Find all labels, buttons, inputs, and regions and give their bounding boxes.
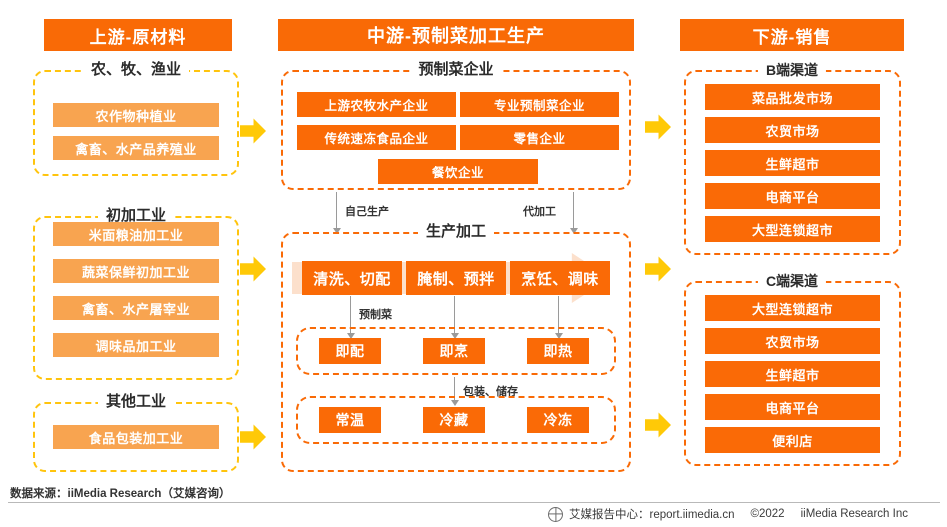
- banner-downstream: 下游-销售: [680, 19, 904, 51]
- chip-traditional-frozen-food-enterprise[interactable]: 传统速冻食品企业: [297, 125, 456, 150]
- chip-condiment-processing[interactable]: 调味品加工业: [53, 333, 219, 357]
- group-title-b-channel: B端渠道: [758, 62, 826, 78]
- chip-food-packaging[interactable]: 食品包装加工业: [53, 425, 219, 449]
- chip-b-wholesale-market[interactable]: 菜品批发市场: [705, 84, 880, 110]
- chip-catering-enterprise[interactable]: 餐饮企业: [378, 159, 538, 184]
- chip-livestock-aquaculture[interactable]: 禽畜、水产品养殖业: [53, 136, 219, 160]
- chip-c-convenience-store[interactable]: 便利店: [705, 427, 880, 453]
- flow-arrow-upstream-to-midstream-3: [240, 424, 266, 450]
- chip-c-farmers-market[interactable]: 农贸市场: [705, 328, 880, 354]
- infographic-canvas: 上游-原材料 农、牧、渔业 农作物种植业 禽畜、水产品养殖业 初加工业 米面粮油…: [0, 0, 947, 527]
- flow-arrow-upstream-to-midstream-2: [240, 256, 266, 282]
- banner-upstream: 上游-原材料: [44, 19, 232, 51]
- chip-vegetable-preservation[interactable]: 蔬菜保鲜初加工业: [53, 259, 219, 283]
- chip-retail-enterprise[interactable]: 零售企业: [460, 125, 619, 150]
- flow-arrow-midstream-to-downstream-2: [645, 256, 671, 282]
- chip-c-ecommerce-platform[interactable]: 电商平台: [705, 394, 880, 420]
- chip-ready-to-cook[interactable]: 即烹: [423, 338, 485, 364]
- chip-ready-to-prepare[interactable]: 即配: [319, 338, 381, 364]
- group-title-production-processing: 生产加工: [418, 224, 494, 240]
- chip-refrigerated[interactable]: 冷藏: [423, 407, 485, 433]
- group-title-other-industry: 其他工业: [98, 394, 174, 410]
- chip-c-fresh-supermarket[interactable]: 生鲜超市: [705, 361, 880, 387]
- chip-c-chain-supermarket[interactable]: 大型连锁超市: [705, 295, 880, 321]
- banner-midstream: 中游-预制菜加工生产: [278, 19, 634, 51]
- chip-upstream-agri-enterprise[interactable]: 上游农牧水产企业: [297, 92, 456, 117]
- company-text: iiMedia Research Inc: [801, 508, 908, 520]
- chip-b-farmers-market[interactable]: 农贸市场: [705, 117, 880, 143]
- chip-cook-season[interactable]: 烹饪、调味: [510, 261, 610, 295]
- chip-ready-to-heat[interactable]: 即热: [527, 338, 589, 364]
- source-note: 数据来源：iiMedia Research（艾媒咨询）: [10, 485, 230, 501]
- footer-divider: [8, 502, 940, 503]
- chip-wash-cut[interactable]: 清洗、切配: [302, 261, 402, 295]
- chip-ambient-temperature[interactable]: 常温: [319, 407, 381, 433]
- connector-label-prepared-dish: 预制菜: [359, 306, 392, 322]
- chip-crop-planting[interactable]: 农作物种植业: [53, 103, 219, 127]
- connector-label-oem: 代加工: [523, 203, 556, 219]
- connector-line-oem: [573, 192, 574, 229]
- connector-line-self-production: [336, 192, 337, 229]
- chip-b-chain-supermarket[interactable]: 大型连锁超市: [705, 216, 880, 242]
- globe-icon: [548, 507, 563, 522]
- flow-arrow-midstream-to-downstream-1: [645, 114, 671, 140]
- flow-arrow-upstream-to-midstream-1: [240, 118, 266, 144]
- chip-b-ecommerce-platform[interactable]: 电商平台: [705, 183, 880, 209]
- chip-frozen[interactable]: 冷冻: [527, 407, 589, 433]
- chip-professional-prepared-enterprise[interactable]: 专业预制菜企业: [460, 92, 619, 117]
- connector-label-self-production: 自己生产: [345, 203, 389, 219]
- chip-grain-oil-processing[interactable]: 米面粮油加工业: [53, 222, 219, 246]
- chip-b-fresh-supermarket[interactable]: 生鲜超市: [705, 150, 880, 176]
- chip-slaughter-industry[interactable]: 禽畜、水产屠宰业: [53, 296, 219, 320]
- footer-bar: 艾媒报告中心：report.iimedia.cn ©2022 iiMedia R…: [548, 506, 918, 522]
- group-title-agriculture: 农、牧、渔业: [83, 62, 189, 78]
- group-title-c-channel: C端渠道: [758, 273, 826, 289]
- report-center-text: 艾媒报告中心：report.iimedia.cn: [569, 506, 735, 522]
- chip-marinate-premix[interactable]: 腌制、预拌: [406, 261, 506, 295]
- flow-arrow-midstream-to-downstream-3: [645, 412, 671, 438]
- copyright-text: ©2022: [751, 508, 785, 520]
- group-title-prepared-food-enterprises: 预制菜企业: [410, 62, 501, 78]
